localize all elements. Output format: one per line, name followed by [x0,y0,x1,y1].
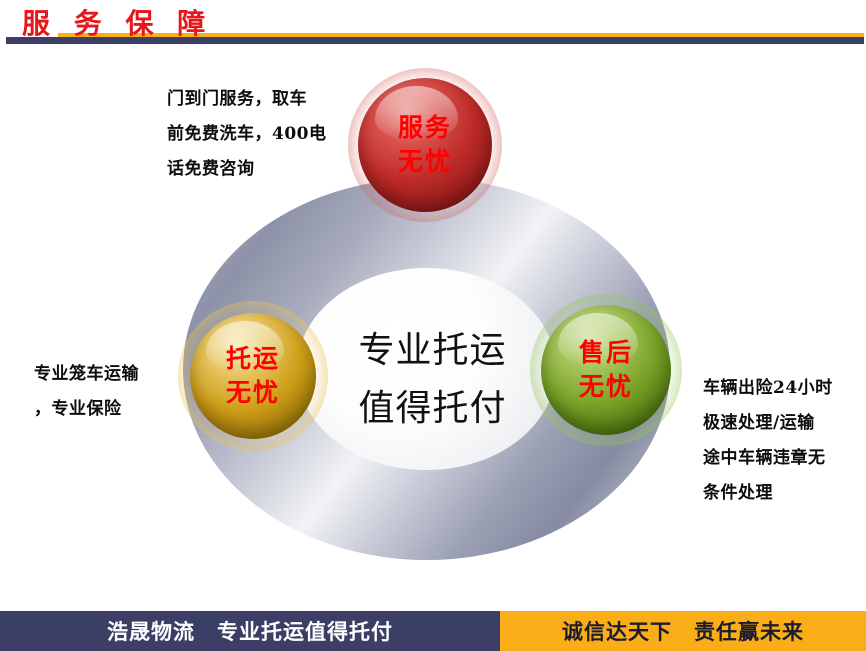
callout-aftersales-line-2: 极速处理/运输 [703,406,866,441]
center-headline-line-1: 专业托运 [330,322,535,380]
node-shipping-label: 托运 无忧 [190,313,316,439]
node-service-label: 服务 无忧 [358,78,492,212]
node-aftersales-label-line-2: 无忧 [579,370,633,405]
node-aftersales-label-line-1: 售后 [579,336,633,371]
callout-aftersales-line-4: 条件处理 [703,476,866,511]
node-shipping-label-line-1: 托运 [226,342,280,377]
callout-service-line-1: 门到门服务，取车 [167,82,357,117]
callout-service-line-2: 前免费洗车，400电 [167,117,357,152]
center-headline: 专业托运 值得托付 [330,322,535,439]
callout-shipping-line-2: ，专业保险 [34,392,199,427]
footer-right-slogan-a: 诚信达天下 [562,616,672,646]
callout-shipping: 专业笼车运输 ，专业保险 [34,357,199,427]
footer-bar: 浩晟物流 专业托运值得托付 诚信达天下 责任赢未来 [0,611,866,651]
node-aftersales-label: 售后 无忧 [541,305,671,435]
callout-aftersales-line-1: 车辆出险24小时 [703,371,866,406]
callout-aftersales-line-3: 途中车辆违章无 [703,441,866,476]
footer-left-slogan: 专业托运值得托付 [217,616,393,646]
footer-left-panel: 浩晟物流 专业托运值得托付 [0,611,500,651]
center-headline-line-2: 值得托付 [330,380,535,438]
page-title: 服 务 保 障 [22,2,212,42]
footer-brand: 浩晟物流 [107,616,195,646]
callout-aftersales: 车辆出险24小时 极速处理/运输 途中车辆违章无 条件处理 [703,371,866,510]
node-shipping-label-line-2: 无忧 [226,376,280,411]
callout-service-line-3: 话免费咨询 [167,152,357,187]
node-service[interactable]: 服务 无忧 [358,78,492,212]
slide-canvas: 服 务 保 障 专业托运 值得托付 服务 无忧 托运 无忧 售后 无忧 [0,0,866,651]
callout-service: 门到门服务，取车 前免费洗车，400电 话免费咨询 [167,82,357,187]
node-service-label-line-2: 无忧 [398,145,452,180]
callout-shipping-line-1: 专业笼车运输 [34,357,199,392]
footer-right-slogan-b: 责任赢未来 [694,616,804,646]
footer-right-panel: 诚信达天下 责任赢未来 [500,611,866,651]
node-shipping[interactable]: 托运 无忧 [190,313,316,439]
node-aftersales[interactable]: 售后 无忧 [541,305,671,435]
node-service-label-line-1: 服务 [398,111,452,146]
